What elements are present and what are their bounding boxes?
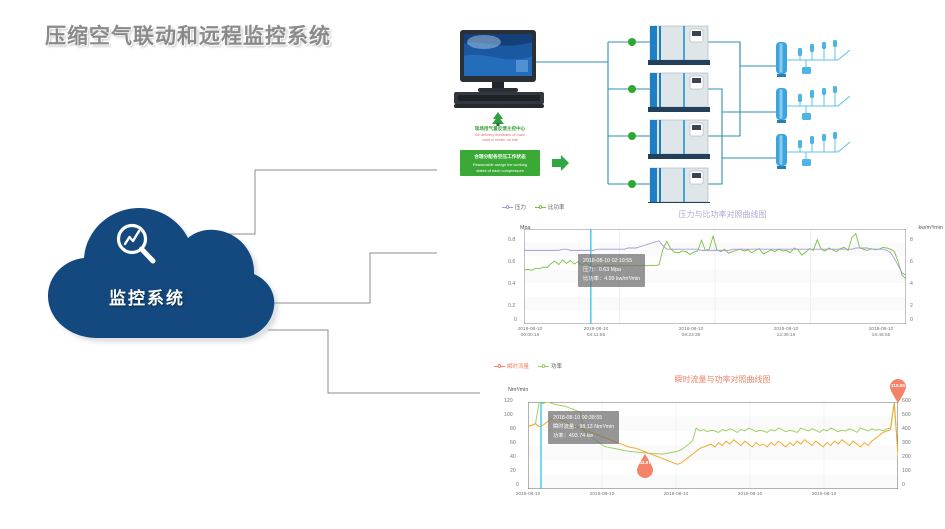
chart2-xtick: 2018-08-10: [646, 492, 706, 498]
chart1-y2-axis-unit: kw/m³/min: [918, 225, 943, 231]
legend-label: 比功率: [548, 203, 565, 211]
chart1-y2tick: 4: [910, 281, 913, 287]
legend-label: 功率: [551, 362, 562, 370]
working-state-callout: 合理分配各空压工作状态 Reasonable assign the workin…: [460, 150, 540, 176]
chart-magnifier-icon: [112, 220, 160, 268]
legend-marker-icon: [535, 205, 546, 210]
right-arrow-icon: [552, 155, 569, 171]
chart2-title: 瞬时流量与功率对照曲线图: [590, 374, 855, 385]
chart2-tooltip-timestamp: 2018-08-10 00:38:55: [553, 414, 614, 423]
chart1-title: 压力与比功率对照曲线图: [595, 209, 850, 220]
chart2-xtick: 2018-08-10: [794, 492, 854, 498]
chart1-ytick: 0.2: [508, 303, 515, 309]
legend-label: 瞬时流量: [507, 362, 529, 370]
tree-arrow-icon: [492, 112, 504, 126]
chart1-y2tick: 8: [910, 237, 913, 243]
chart2-y2tick: 500: [902, 412, 911, 418]
chart1-xtick: 2018-08-1008:23:35: [661, 327, 721, 340]
page-title: 压缩空气联动和远程监控系统: [45, 20, 331, 50]
chart2-y2tick: 100: [902, 468, 911, 474]
cloud-shape: [40, 196, 295, 341]
chart2-ytick: 60: [510, 440, 516, 446]
pin-icon: [636, 454, 654, 478]
monitoring-cloud[interactable]: 监控系统: [40, 196, 295, 341]
chart1-tooltip-timestamp: 2018-08-10 02:19:55: [583, 257, 640, 266]
legend-item-power[interactable]: 功率: [538, 362, 562, 370]
legend-item-pressure[interactable]: 压力: [502, 203, 526, 211]
chart2-ytick: 100: [504, 412, 513, 418]
chart1-legend[interactable]: 压力 比功率: [502, 203, 565, 211]
chart2-legend[interactable]: 瞬时流量 功率: [494, 362, 562, 370]
status-nodes: [628, 38, 636, 188]
min-marker-value: 33.87: [633, 460, 657, 465]
chart2-xtick: 2018-08-10: [572, 492, 632, 498]
chart1-xtick: 2018-08-1016:46:55: [851, 327, 911, 340]
pressure-vs-specific-power-chart[interactable]: 压力 比功率 压力与比功率对照曲线图 Mpa kw/m³/min 0.8 0.6…: [500, 203, 945, 333]
chart2-ytick: 120: [504, 398, 513, 404]
legend-item-specific-power[interactable]: 比功率: [535, 203, 565, 211]
chart1-ytick: 0.4: [508, 281, 515, 287]
chart1-ytick: 0.8: [508, 237, 515, 243]
chart2-ytick: 80: [510, 426, 516, 432]
legend-marker-icon: [538, 364, 549, 369]
chart2-y2tick: 200: [902, 454, 911, 460]
legend-marker-icon: [502, 205, 513, 210]
legend-marker-icon: [494, 364, 505, 369]
instant-flow-vs-power-chart[interactable]: 瞬时流量 功率 瞬时流量与功率对照曲线图 Nm³/min 120 100 80 …: [490, 360, 945, 520]
chart1-xtick: 2018-08-1012:35:15: [756, 327, 816, 340]
working-state-label-cn: 合理分配各空压工作状态: [460, 154, 540, 160]
chart2-tooltip-line2: 功率：493.74 kw: [553, 432, 614, 441]
cloud-label: 监控系统: [40, 284, 254, 309]
chart1-tooltip-line1: 压力：0.63 Mpa: [583, 266, 640, 275]
chart2-tooltip-line1: 瞬时流量：98.13 Nm³/min: [553, 423, 614, 432]
chart2-xtick: 2018-08-10: [720, 492, 780, 498]
legend-label: 压力: [515, 203, 526, 211]
chart2-y2tick: 0: [902, 482, 905, 488]
legend-item-instant-flow[interactable]: 瞬时流量: [494, 362, 529, 370]
chart2-xtick: 2018-08-10: [498, 492, 558, 498]
chart2-ytick: 40: [510, 454, 516, 460]
working-state-label-en-1: Reasonable assign the working: [460, 162, 540, 167]
chart1-ytick: 0: [514, 317, 517, 323]
air-tank-groups: [776, 40, 850, 169]
control-center-label-en-2: control center on site: [454, 137, 546, 142]
chart1-y2tick: 2: [910, 303, 913, 309]
max-marker-value: 118.55: [886, 383, 910, 388]
chart2-tooltip: 2018-08-10 00:38:55 瞬时流量：98.13 Nm³/min 功…: [548, 411, 619, 444]
working-state-label-en-2: states of each compressors: [460, 168, 540, 173]
chart1-ytick: 0.6: [508, 259, 515, 265]
chart2-y2tick: 400: [902, 426, 911, 432]
chart2-ytick: 20: [510, 468, 516, 474]
chart2-y2tick: 300: [902, 440, 911, 446]
desktop-monitor-icon: [454, 30, 544, 108]
chart1-xtick: 2018-08-1000:00:15: [500, 327, 560, 340]
chart1-xtick: 2018-08-1004:11:55: [566, 327, 626, 340]
chart2-y-axis-unit: Nm³/min: [508, 387, 528, 393]
compressor-units: [648, 26, 710, 207]
chart1-y2tick: 6: [910, 259, 913, 265]
chart1-tooltip-line2: 比功率：4.99 kw/m³/min: [583, 275, 640, 284]
chart1-tooltip: 2018-08-10 02:19:55 压力：0.63 Mpa 比功率：4.99…: [578, 254, 645, 287]
chart1-y2tick: 0: [910, 317, 913, 323]
compressed-air-system-diagram[interactable]: 现场用气量反馈主控中心 Air delivery feedback of mai…: [440, 22, 945, 207]
chart2-ytick: 0: [516, 482, 519, 488]
